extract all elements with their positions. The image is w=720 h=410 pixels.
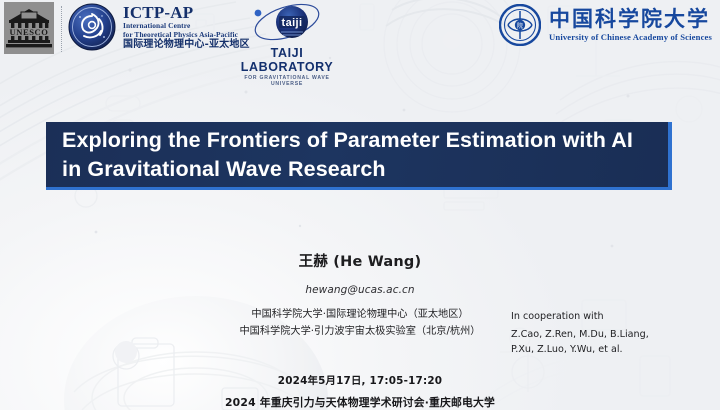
slide-header: UNESCO — [0, 0, 720, 62]
event-venue: 2024 年重庆引力与天体物理学术研讨会·重庆邮电大学 — [0, 394, 720, 410]
ictp-chinese-name: 国际理论物理中心-亚太地区 — [123, 40, 250, 50]
ucas-chinese-name: 中国科学院大学 — [549, 9, 712, 30]
title-banner: Exploring the Frontiers of Parameter Est… — [46, 122, 672, 190]
ucas-english-name: University of Chinese Academy of Science… — [549, 33, 712, 42]
slide-title: Exploring the Frontiers of Parameter Est… — [46, 126, 668, 183]
taiji-laboratory-logo: taiji TAIJI LABORATORY FOR GRAVITATIONAL… — [232, 2, 342, 87]
taiji-orbit-icon: taiji — [232, 2, 342, 42]
collaborators-line-2: P.Xu, Z.Luo, Y.Wu, et al. — [511, 342, 649, 357]
event-datetime: 2024年5月17日, 17:05-17:20 — [0, 372, 720, 387]
svg-text:taiji: taiji — [282, 17, 303, 29]
header-divider — [61, 6, 63, 52]
ucas-emblem-icon: 院 — [499, 4, 541, 46]
ictp-ap-logo: ICTP-AP International Centre for Theoret… — [68, 3, 250, 51]
ictp-emblem-icon — [68, 3, 116, 51]
ictp-acronym: ICTP-AP — [123, 4, 250, 21]
cooperation-heading: In cooperation with — [511, 309, 649, 324]
ucas-logo: 院 中国科学院大学 University of Chinese Academy … — [499, 4, 712, 46]
ictp-line2: for Theoretical Physics Asia-Pacific — [123, 31, 250, 38]
unesco-temple-icon: UNESCO — [4, 2, 54, 54]
author-name: 王赫 (He Wang) — [0, 250, 720, 271]
collaborators-line-1: Z.Cao, Z.Ren, M.Du, B.Liang, — [511, 327, 649, 342]
svg-text:UNESCO: UNESCO — [9, 27, 48, 37]
author-email: hewang@ucas.ac.cn — [0, 284, 720, 296]
taiji-subtitle: FOR GRAVITATIONAL WAVE UNIVERSE — [232, 75, 342, 87]
slide-footer: 2024年5月17日, 17:05-17:20 2024 年重庆引力与天体物理学… — [0, 372, 720, 410]
presentation-slide: UNESCO — [0, 0, 720, 410]
svg-text:院: 院 — [517, 22, 523, 30]
unesco-logo: UNESCO — [4, 2, 54, 54]
ictp-line1: International Centre — [123, 22, 250, 29]
taiji-name: TAIJI LABORATORY — [232, 46, 342, 74]
cooperation-block: In cooperation with Z.Cao, Z.Ren, M.Du, … — [511, 309, 649, 357]
